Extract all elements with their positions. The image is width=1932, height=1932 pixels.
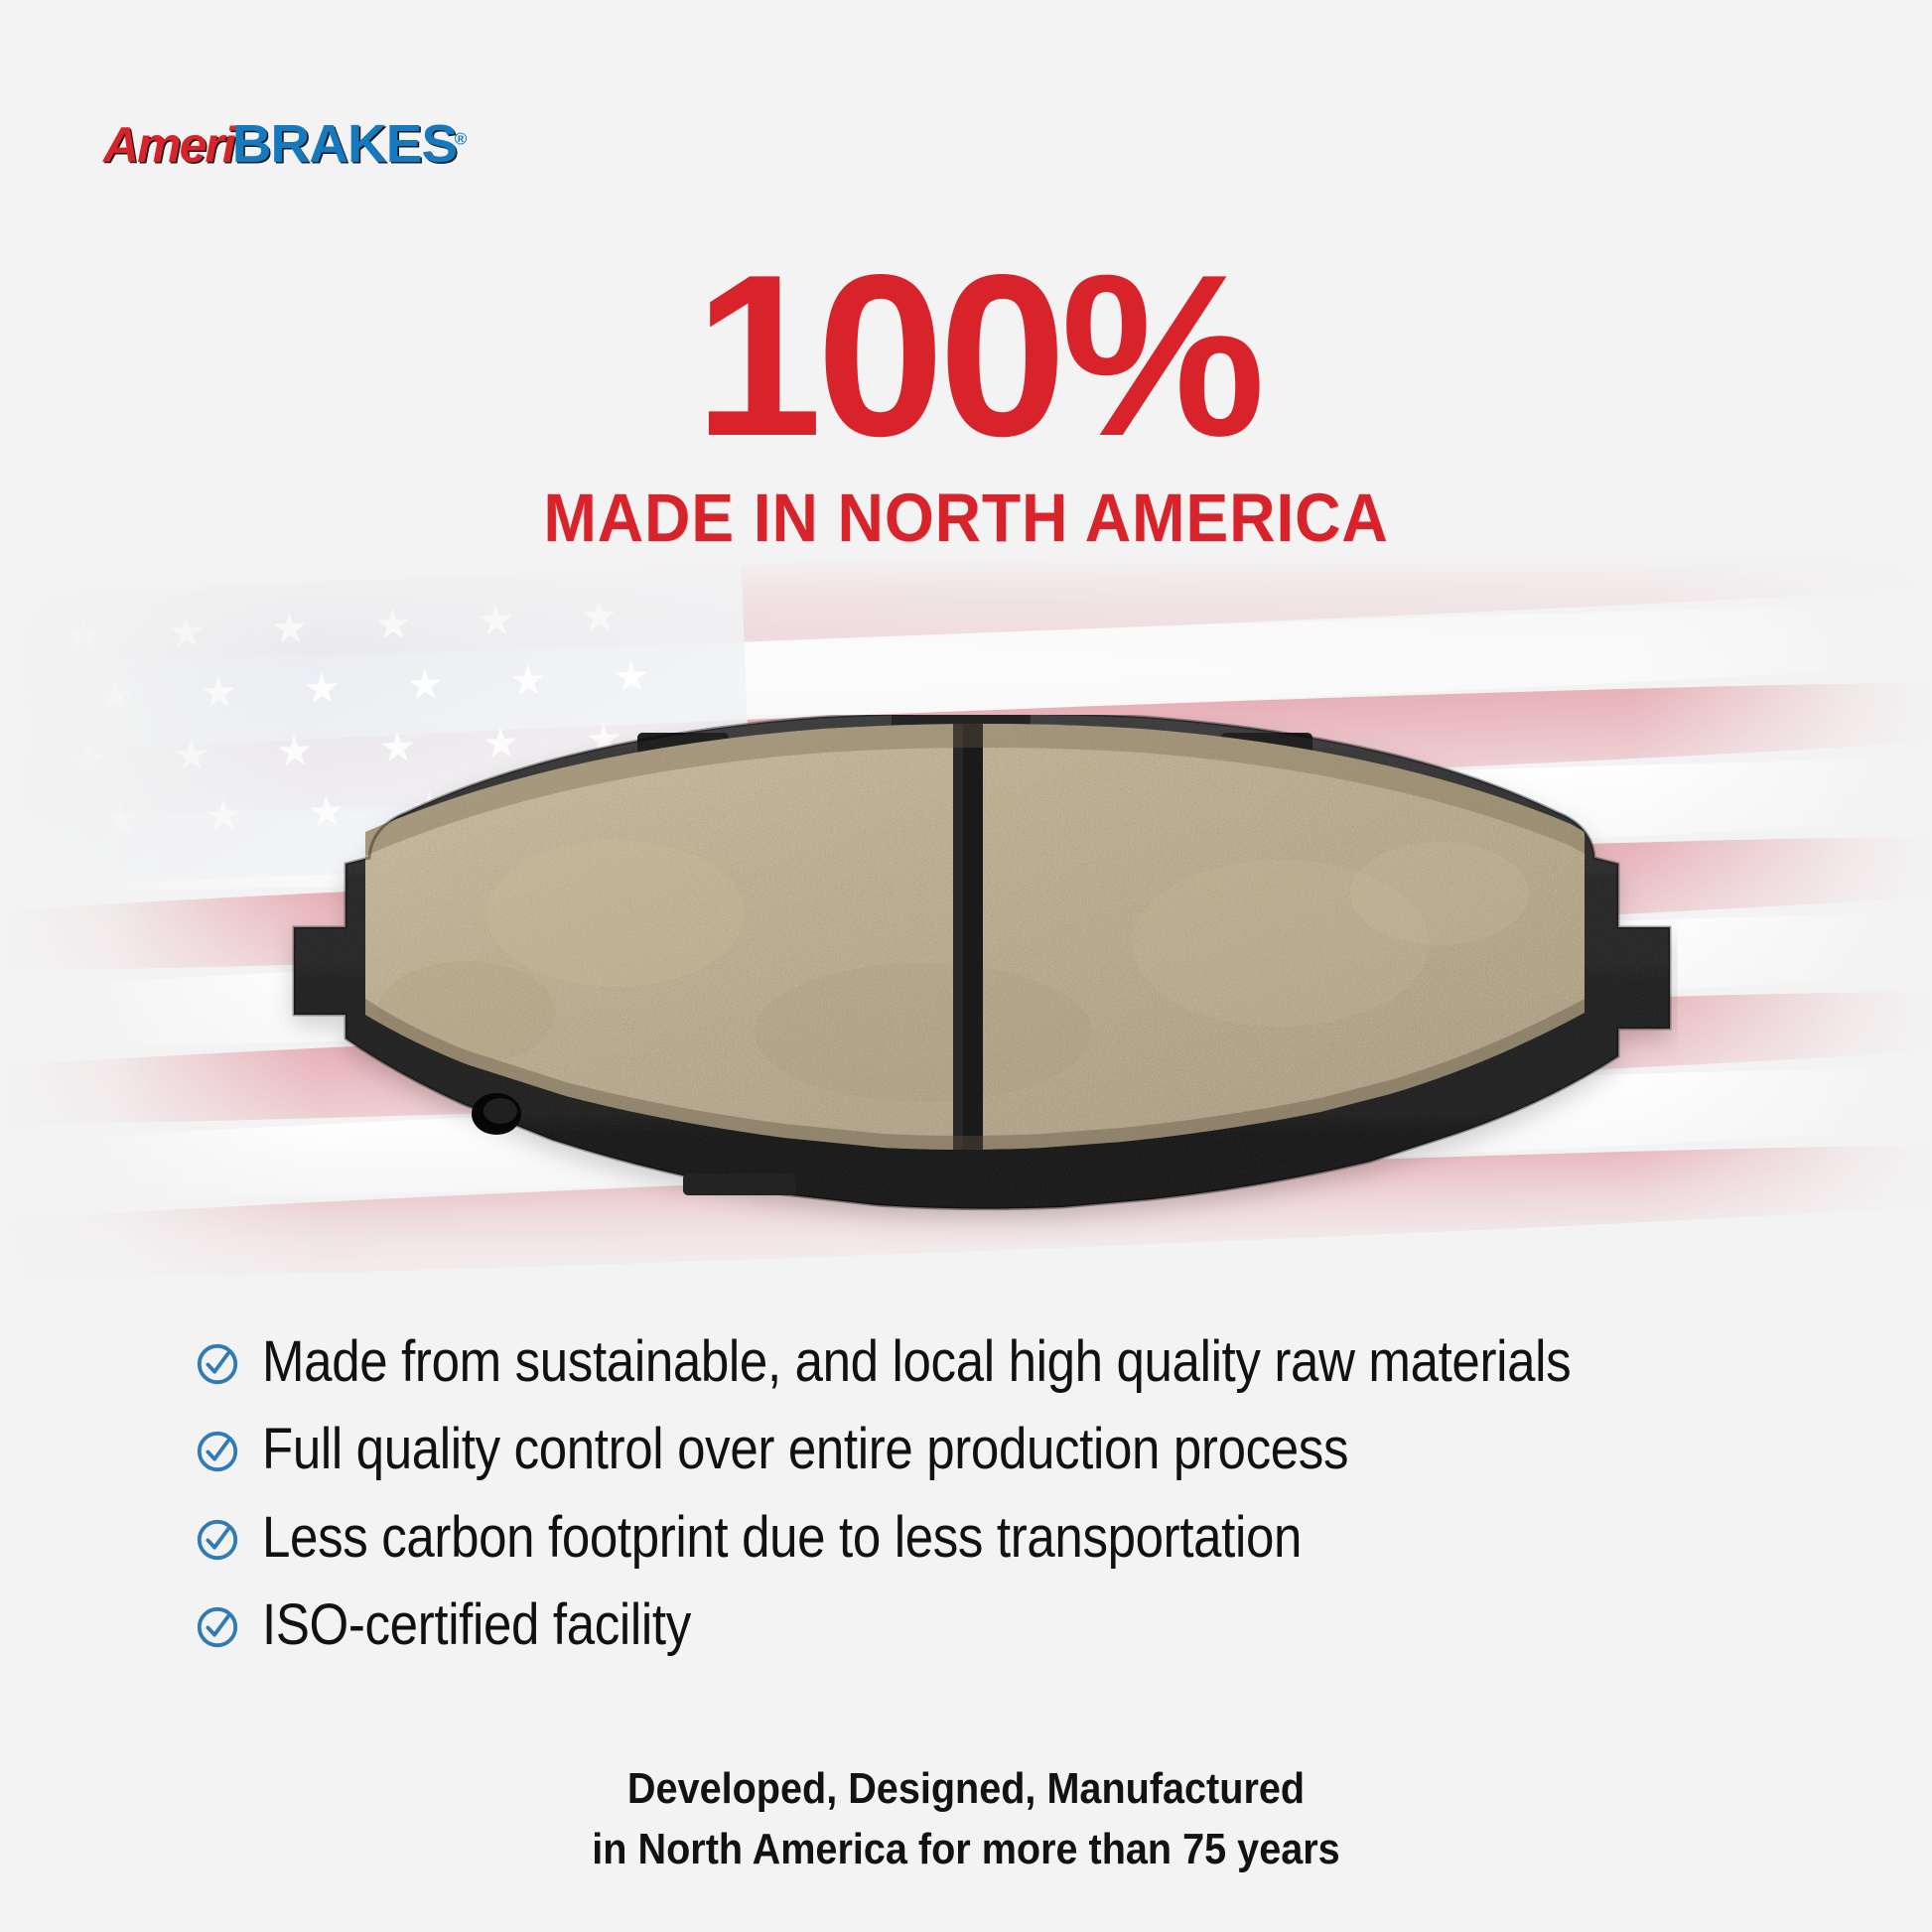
headline-block: 100% MADE IN NORTH AMERICA (0, 250, 1932, 552)
retaining-tab (683, 1173, 796, 1195)
check-circle-icon (195, 1517, 240, 1563)
feature-label: ISO-certified facility (262, 1595, 691, 1655)
brand-logo[interactable]: AmeriBRAKES® (103, 117, 466, 171)
feature-list: Made from sustainable, and local high qu… (195, 1332, 1743, 1683)
list-item: ISO-certified facility (195, 1595, 1743, 1655)
check-circle-icon (195, 1604, 240, 1650)
list-item: Made from sustainable, and local high qu… (195, 1332, 1743, 1392)
feature-label: Made from sustainable, and local high qu… (262, 1332, 1571, 1392)
list-item: Full quality control over entire product… (195, 1420, 1743, 1479)
headline-subtitle: MADE IN NORTH AMERICA (68, 483, 1864, 552)
feature-label: Full quality control over entire product… (262, 1420, 1348, 1479)
check-circle-icon (195, 1429, 240, 1474)
footer-block: Developed, Designed, Manufactured in Nor… (0, 1759, 1932, 1879)
footer-line-1: Developed, Designed, Manufactured (96, 1759, 1835, 1820)
logo-brakes-text: BRAKES (232, 117, 457, 171)
brake-pad-image (268, 715, 1678, 1271)
headline-percent: 100% (22, 250, 1932, 462)
feature-label: Less carbon footprint due to less transp… (262, 1508, 1302, 1568)
list-item: Less carbon footprint due to less transp… (195, 1508, 1743, 1568)
footer-line-2: in North America for more than 75 years (96, 1820, 1835, 1880)
check-circle-icon (195, 1341, 240, 1387)
logo-ameri-text: Ameri (103, 117, 234, 173)
mounting-hole (472, 1093, 521, 1135)
